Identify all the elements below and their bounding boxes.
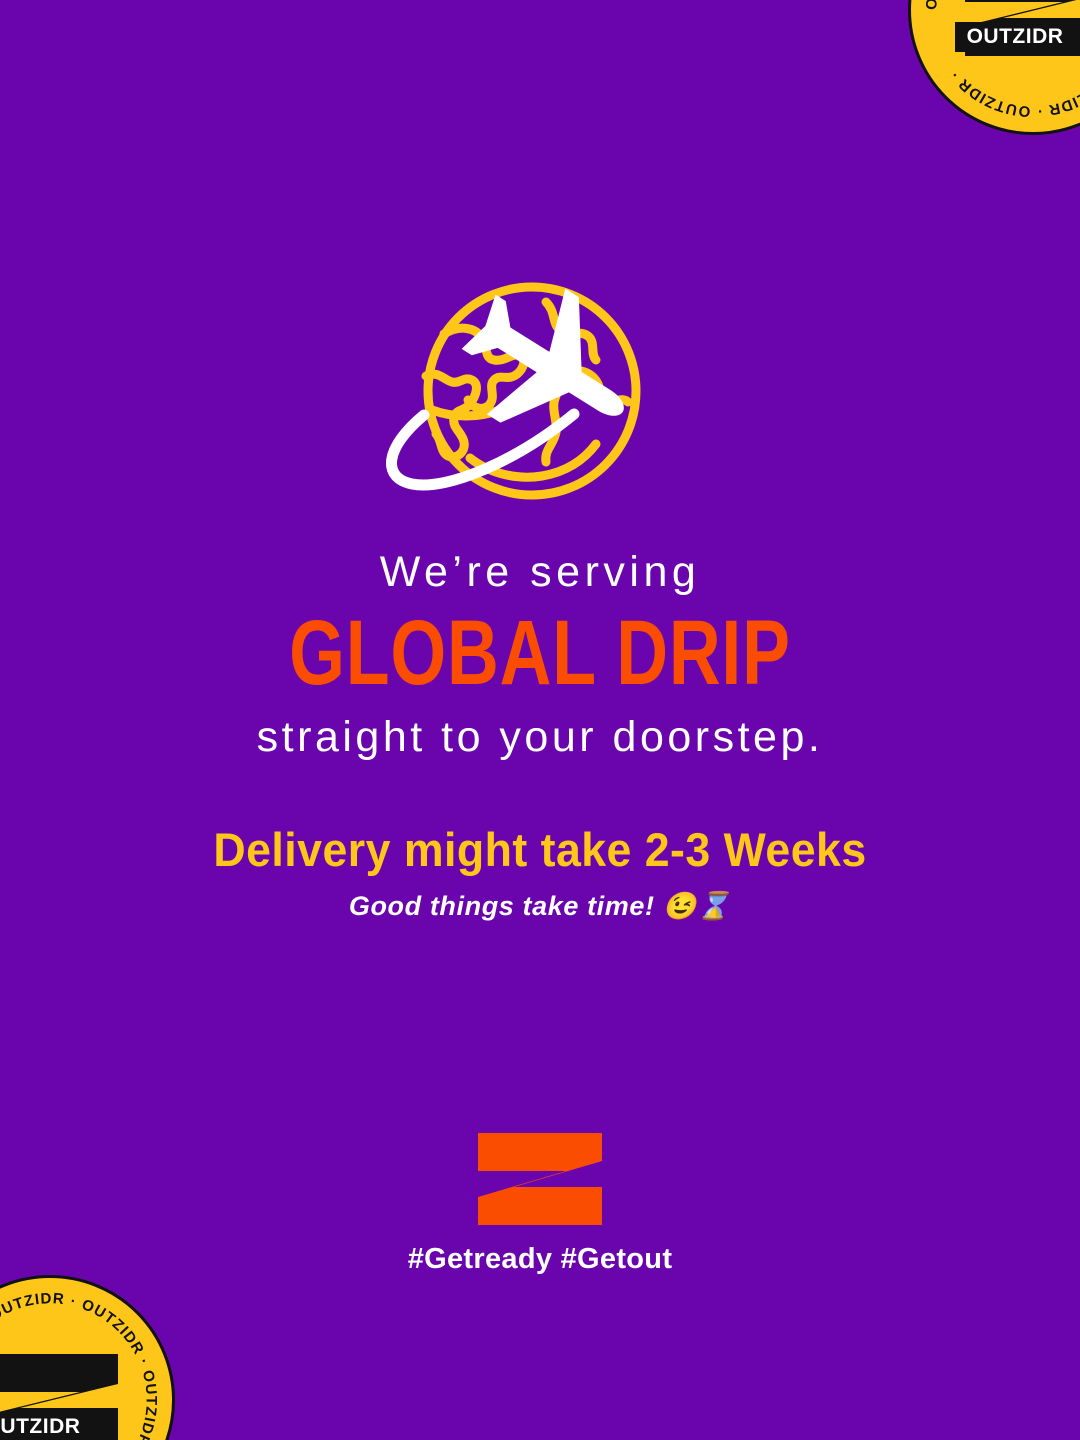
- outzidr-stamp-badge-top-right: OUTZIDR · OUTZIDR · OUTZIDR · OUTZIDR · …: [908, 0, 1080, 135]
- outzidr-z-logo-icon: [478, 1133, 602, 1225]
- badge-z-mark: OUTZIDR: [0, 1352, 124, 1440]
- globe-airplane-illustration: [360, 278, 720, 508]
- promo-poster: OUTZIDR · OUTZIDR · OUTZIDR · OUTZIDR · …: [0, 0, 1080, 1440]
- badge-wordmark: OUTZIDR: [955, 22, 1075, 52]
- delivery-time-text: Delivery might take 2-3 Weeks: [27, 822, 1053, 878]
- delivery-notice-block: Delivery might take 2-3 Weeks Good thing…: [0, 822, 1080, 922]
- subline-text: straight to your doorstep.: [0, 713, 1080, 762]
- footer-block: #Getready #Getout: [0, 1133, 1080, 1276]
- badge-z-mark: OUTZIDR: [959, 0, 1080, 58]
- headline-text: GLOBAL DRIP: [119, 607, 961, 699]
- headline-copy-block: We’re serving GLOBAL DRIP straight to yo…: [0, 548, 1080, 763]
- eyebrow-text: We’re serving: [0, 548, 1080, 597]
- delivery-reassurance-text: Good things take time! 😉⌛: [0, 890, 1080, 922]
- badge-wordmark: OUTZIDR: [0, 1412, 92, 1440]
- globe-airplane-icon: [360, 278, 720, 508]
- hashtags-text: #Getready #Getout: [0, 1243, 1080, 1276]
- outzidr-stamp-badge-bottom-left: OUTZIDR · OUTZIDR · OUTZIDR · OUTZIDR · …: [0, 1275, 175, 1440]
